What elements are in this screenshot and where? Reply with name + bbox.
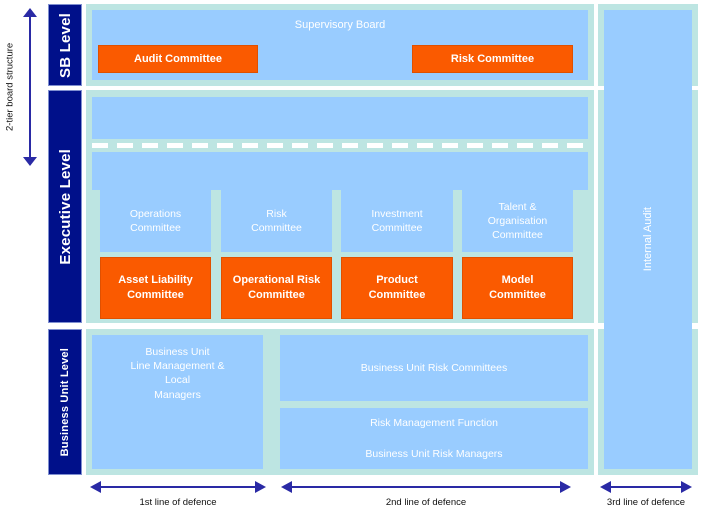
risk-management-function-box[interactable]: Risk Management Function Business Unit R…: [280, 408, 588, 469]
defence-line-2: 2nd line of defence: [281, 479, 571, 513]
tier-structure-axis: 2-tier board structure: [0, 6, 42, 166]
business-unit-risk-managers-label: Business Unit Risk Managers: [365, 447, 502, 461]
internal-audit-box[interactable]: Internal Audit: [604, 10, 692, 469]
risk-management-function-title: Risk Management Function: [370, 416, 498, 430]
dashed-divider: [92, 143, 588, 148]
defence-line-1-line: [100, 486, 256, 488]
defence-line-3: 3rd line of defence: [600, 479, 692, 513]
executive-blank-bar-2[interactable]: [92, 152, 588, 190]
investment-committee-box[interactable]: InvestmentCommittee: [341, 190, 453, 252]
business-unit-line-management-box[interactable]: Business UnitLine Management &LocalManag…: [92, 335, 263, 469]
diagram-canvas: 2-tier board structure SB Level Executiv…: [0, 0, 705, 513]
level-tab-executive-label: Executive Level: [57, 149, 74, 265]
axis-line: [29, 14, 31, 160]
operations-committee-box[interactable]: OperationsCommittee: [100, 190, 211, 252]
talent-organisation-committee-box[interactable]: Talent &OrganisationCommittee: [462, 190, 573, 252]
defence-line-3-line: [610, 486, 682, 488]
arrow-down-icon: [23, 157, 37, 166]
arrow-right-icon: [681, 481, 692, 493]
defence-line-2-line: [291, 486, 561, 488]
executive-blank-bar-1[interactable]: [92, 97, 588, 139]
level-tab-sb[interactable]: SB Level: [48, 4, 82, 86]
defence-line-2-label: 2nd line of defence: [281, 497, 571, 508]
defence-line-3-label: 3rd line of defence: [600, 497, 692, 508]
arrow-right-icon: [255, 481, 266, 493]
risk-committee-exec-box[interactable]: RiskCommittee: [221, 190, 332, 252]
level-tab-sb-label: SB Level: [57, 13, 74, 78]
internal-audit-label: Internal Audit: [641, 207, 656, 271]
product-committee-box[interactable]: ProductCommittee: [341, 257, 453, 319]
level-tab-business-unit[interactable]: Business Unit Level: [48, 329, 82, 475]
risk-committee-box[interactable]: Risk Committee: [412, 45, 573, 73]
level-tab-executive[interactable]: Executive Level: [48, 90, 82, 323]
tier-axis-label: 2-tier board structure: [2, 14, 18, 159]
level-tab-business-unit-label: Business Unit Level: [59, 348, 71, 456]
model-committee-box[interactable]: ModelCommittee: [462, 257, 573, 319]
operational-risk-committee-box[interactable]: Operational RiskCommittee: [221, 257, 332, 319]
defence-line-1: 1st line of defence: [90, 479, 266, 513]
asset-liability-committee-box[interactable]: Asset LiabilityCommittee: [100, 257, 211, 319]
audit-committee-box[interactable]: Audit Committee: [98, 45, 258, 73]
business-unit-risk-committees-box[interactable]: Business Unit Risk Committees: [280, 335, 588, 401]
arrow-right-icon: [560, 481, 571, 493]
defence-line-1-label: 1st line of defence: [90, 497, 266, 508]
